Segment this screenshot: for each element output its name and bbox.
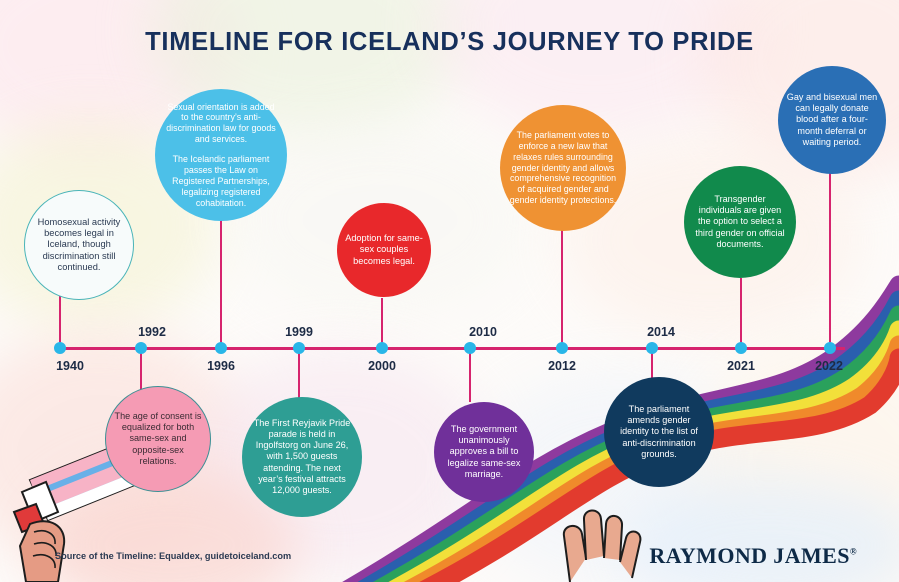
registered-trademark-icon: ®	[850, 547, 857, 557]
year-label-2000: 2000	[368, 359, 396, 373]
timeline-node-1992[interactable]	[135, 342, 147, 354]
timeline-node-1999[interactable]	[293, 342, 305, 354]
timeline-node-1996[interactable]	[215, 342, 227, 354]
event-text-1996-part2: The Icelandic parliament passes the Law …	[163, 154, 279, 208]
year-label-1940: 1940	[56, 359, 84, 373]
event-text-2000: Adoption for same-sex couples becomes le…	[345, 233, 423, 267]
event-bubble-1992[interactable]: The age of consent is equalized for both…	[105, 386, 211, 492]
event-text-1999: The First Reyjavik Pride parade is held …	[250, 418, 354, 496]
year-label-2021: 2021	[727, 359, 755, 373]
event-bubble-2014[interactable]: The parliament amends gender identity to…	[604, 377, 714, 487]
raymond-james-logo: RAYMOND JAMES®	[649, 543, 857, 569]
stem-1999	[298, 348, 300, 400]
timeline-node-2000[interactable]	[376, 342, 388, 354]
event-text-2010: The government unanimously approves a bi…	[442, 424, 526, 479]
event-bubble-1940[interactable]: Homosexual activity becomes legal in Ice…	[24, 190, 134, 300]
year-label-1999: 1999	[285, 325, 313, 339]
event-text-2012: The parliament votes to enforce a new la…	[508, 130, 618, 206]
stem-2000	[381, 298, 383, 348]
timeline-node-2022[interactable]	[824, 342, 836, 354]
page-title: TIMELINE FOR ICELAND’S JOURNEY TO PRIDE	[0, 28, 899, 57]
event-text-2022: Gay and bisexual men can legally donate …	[786, 92, 878, 147]
event-bubble-2000[interactable]: Adoption for same-sex couples becomes le…	[337, 203, 431, 297]
year-label-2022: 2022	[815, 359, 843, 373]
logo-text: RAYMOND JAMES	[649, 543, 850, 568]
stem-2021	[740, 278, 742, 348]
year-label-2012: 2012	[548, 359, 576, 373]
year-label-2010: 2010	[469, 325, 497, 339]
stem-2022	[829, 172, 831, 348]
year-label-2014: 2014	[647, 325, 675, 339]
event-bubble-1996[interactable]: Sexual orientation is added to the count…	[155, 89, 287, 221]
event-text-2021: Transgender individuals are given the op…	[692, 194, 788, 249]
event-bubble-1999[interactable]: The First Reyjavik Pride parade is held …	[242, 397, 362, 517]
event-bubble-2021[interactable]: Transgender individuals are given the op…	[684, 166, 796, 278]
event-text-1940: Homosexual activity becomes legal in Ice…	[33, 217, 125, 274]
event-text-2014: The parliament amends gender identity to…	[612, 404, 706, 459]
infographic-canvas: TIMELINE FOR ICELAND’S JOURNEY TO PRIDE …	[0, 0, 899, 582]
timeline-node-2010[interactable]	[464, 342, 476, 354]
year-label-1996: 1996	[207, 359, 235, 373]
event-text-1996-part1: Sexual orientation is added to the count…	[163, 102, 279, 145]
stem-1996	[220, 218, 222, 348]
stem-2012	[561, 230, 563, 348]
raised-hand-illustration	[540, 490, 660, 582]
timeline-axis	[55, 347, 845, 350]
timeline-node-2014[interactable]	[646, 342, 658, 354]
timeline-node-1940[interactable]	[54, 342, 66, 354]
source-note: Source of the Timeline: Equaldex, guidet…	[55, 551, 291, 561]
year-label-1992: 1992	[138, 325, 166, 339]
event-text-1992: The age of consent is equalized for both…	[114, 411, 202, 466]
event-bubble-2022[interactable]: Gay and bisexual men can legally donate …	[778, 66, 886, 174]
event-bubble-2012[interactable]: The parliament votes to enforce a new la…	[500, 105, 626, 231]
stem-2010	[469, 348, 471, 402]
timeline-node-2021[interactable]	[735, 342, 747, 354]
timeline-node-2012[interactable]	[556, 342, 568, 354]
event-bubble-2010[interactable]: The government unanimously approves a bi…	[434, 402, 534, 502]
